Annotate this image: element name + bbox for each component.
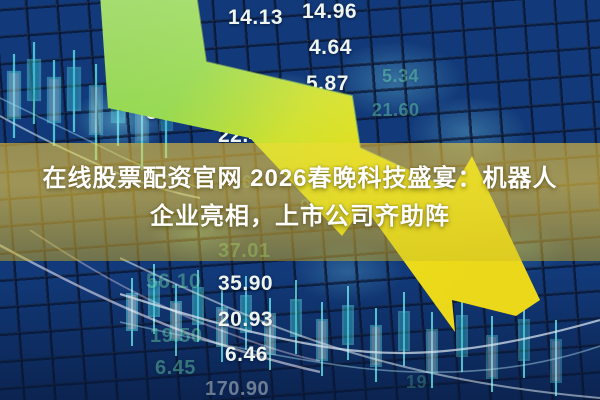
page-title: 在线股票配资官网 2026春晚科技盛宴：机器人 企业亮相，上市公司齐助阵 [0, 160, 600, 236]
headline-line-2: 企业亮相，上市公司齐助阵 [0, 198, 600, 236]
banner-image: 14.1314.964.645.875.435.4222.43355.3421.… [0, 0, 600, 400]
headline-line-1: 在线股票配资官网 2026春晚科技盛宴：机器人 [42, 165, 557, 192]
